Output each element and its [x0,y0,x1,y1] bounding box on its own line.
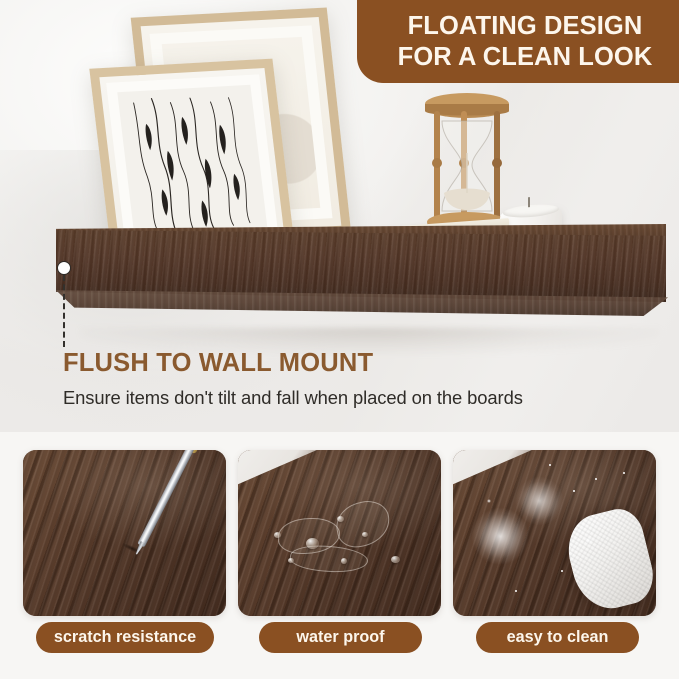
powder-speck [515,590,517,592]
floating-shelf [50,224,675,349]
wood-highlight [23,450,226,616]
water-droplet [391,556,400,563]
powder-speck [595,478,597,480]
water-droplet [306,538,319,549]
powder-speck [573,490,575,492]
product-feature-image: •••• NEW YORKER FLOATING DESIGN FOR A CL… [0,0,679,679]
abstract-brushstroke-art-icon [117,85,268,241]
feature-label-scratch-resistance: scratch resistance [36,622,214,653]
water-droplet [341,558,347,564]
feature-panel-water-proof [238,450,441,616]
front-frame-mat [106,74,279,248]
water-droplet [288,558,294,563]
floating-design-banner: FLOATING DESIGN FOR A CLEAN LOOK [357,0,679,83]
callout-dashed-line [63,275,65,347]
shelf-front-edge [56,230,666,302]
banner-line-2: FOR A CLEAN LOOK [398,42,653,72]
feature-panel-easy-to-clean [453,450,656,616]
banner-line-1: FLOATING DESIGN [408,11,643,41]
water-droplet [274,532,281,538]
water-droplet [362,532,368,537]
powder-speck [549,464,551,466]
water-droplet [337,516,344,522]
flush-mount-heading-block: FLUSH TO WALL MOUNT Ensure items don't t… [63,350,663,409]
flush-mount-marker-dot [57,261,71,275]
page-title: FLUSH TO WALL MOUNT [63,350,663,378]
powder-speck [561,570,563,572]
powder-speck [623,472,625,474]
page-subtitle: Ensure items don't tilt and fall when pl… [63,387,663,409]
feature-panel-scratch-resistance [23,450,226,616]
feature-label-water-proof: water proof [259,622,422,653]
feature-label-easy-to-clean: easy to clean [476,622,639,653]
